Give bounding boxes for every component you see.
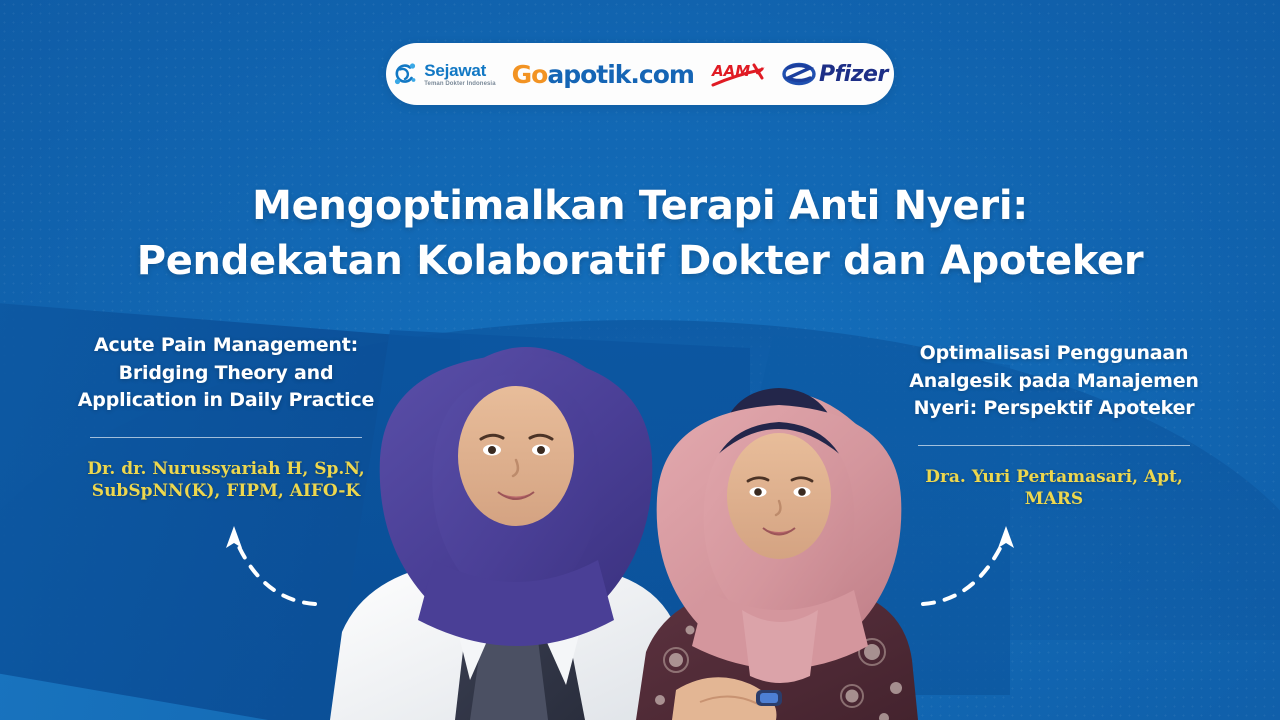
goapotik-logo-suffix: apotik.com <box>547 60 694 89</box>
speaker-block-left: Acute Pain Management: Bridging Theory a… <box>76 332 376 503</box>
goapotik-logo[interactable]: Goapotik.com <box>512 60 694 89</box>
speaker-block-right: Optimalisasi Penggunaan Analgesik pada M… <box>904 340 1204 511</box>
speaker-divider-right <box>918 445 1190 446</box>
speaker-photo-left <box>330 347 690 720</box>
banner-stage: Sejawat Teman Dokter Indonesia Goapotik.… <box>0 0 1280 720</box>
speaker-topic-left: Acute Pain Management: Bridging Theory a… <box>76 332 376 415</box>
aam-logo-icon: AAM <box>710 59 766 89</box>
dashed-curved-arrow-up-icon-right <box>915 518 1055 628</box>
sejawat-logo-tagline: Teman Dokter Indonesia <box>424 81 495 87</box>
pfizer-logo-name: Pfizer <box>819 62 888 87</box>
pfizer-helix-icon <box>782 61 816 87</box>
aam-logo[interactable]: AAM <box>710 59 766 89</box>
pfizer-logo[interactable]: Pfizer <box>782 61 888 87</box>
sejawat-logo-name: Sejawat <box>424 62 495 79</box>
speaker-divider-left <box>90 437 362 438</box>
speaker-name-right: Dra. Yuri Pertamasari, Apt, MARS <box>904 466 1204 511</box>
speaker-photo-right <box>636 388 918 720</box>
speaker-name-left: Dr. dr. Nurussyariah H, Sp.N, SubSpNN(K)… <box>76 458 376 503</box>
goapotik-logo-prefix: Go <box>512 60 548 89</box>
partner-logo-bar: Sejawat Teman Dokter Indonesia Goapotik.… <box>386 43 894 105</box>
dashed-curved-arrow-up-icon-left <box>185 518 325 628</box>
speaker-topic-right: Optimalisasi Penggunaan Analgesik pada M… <box>904 340 1204 423</box>
banner-title: Mengoptimalkan Terapi Anti Nyeri: Pendek… <box>0 179 1280 289</box>
banner-title-line2: Pendekatan Kolaboratif Dokter dan Apotek… <box>0 234 1280 289</box>
banner-title-line1: Mengoptimalkan Terapi Anti Nyeri: <box>252 183 1028 229</box>
sejawat-logo[interactable]: Sejawat Teman Dokter Indonesia <box>392 61 495 87</box>
sejawat-node-icon <box>392 61 418 87</box>
